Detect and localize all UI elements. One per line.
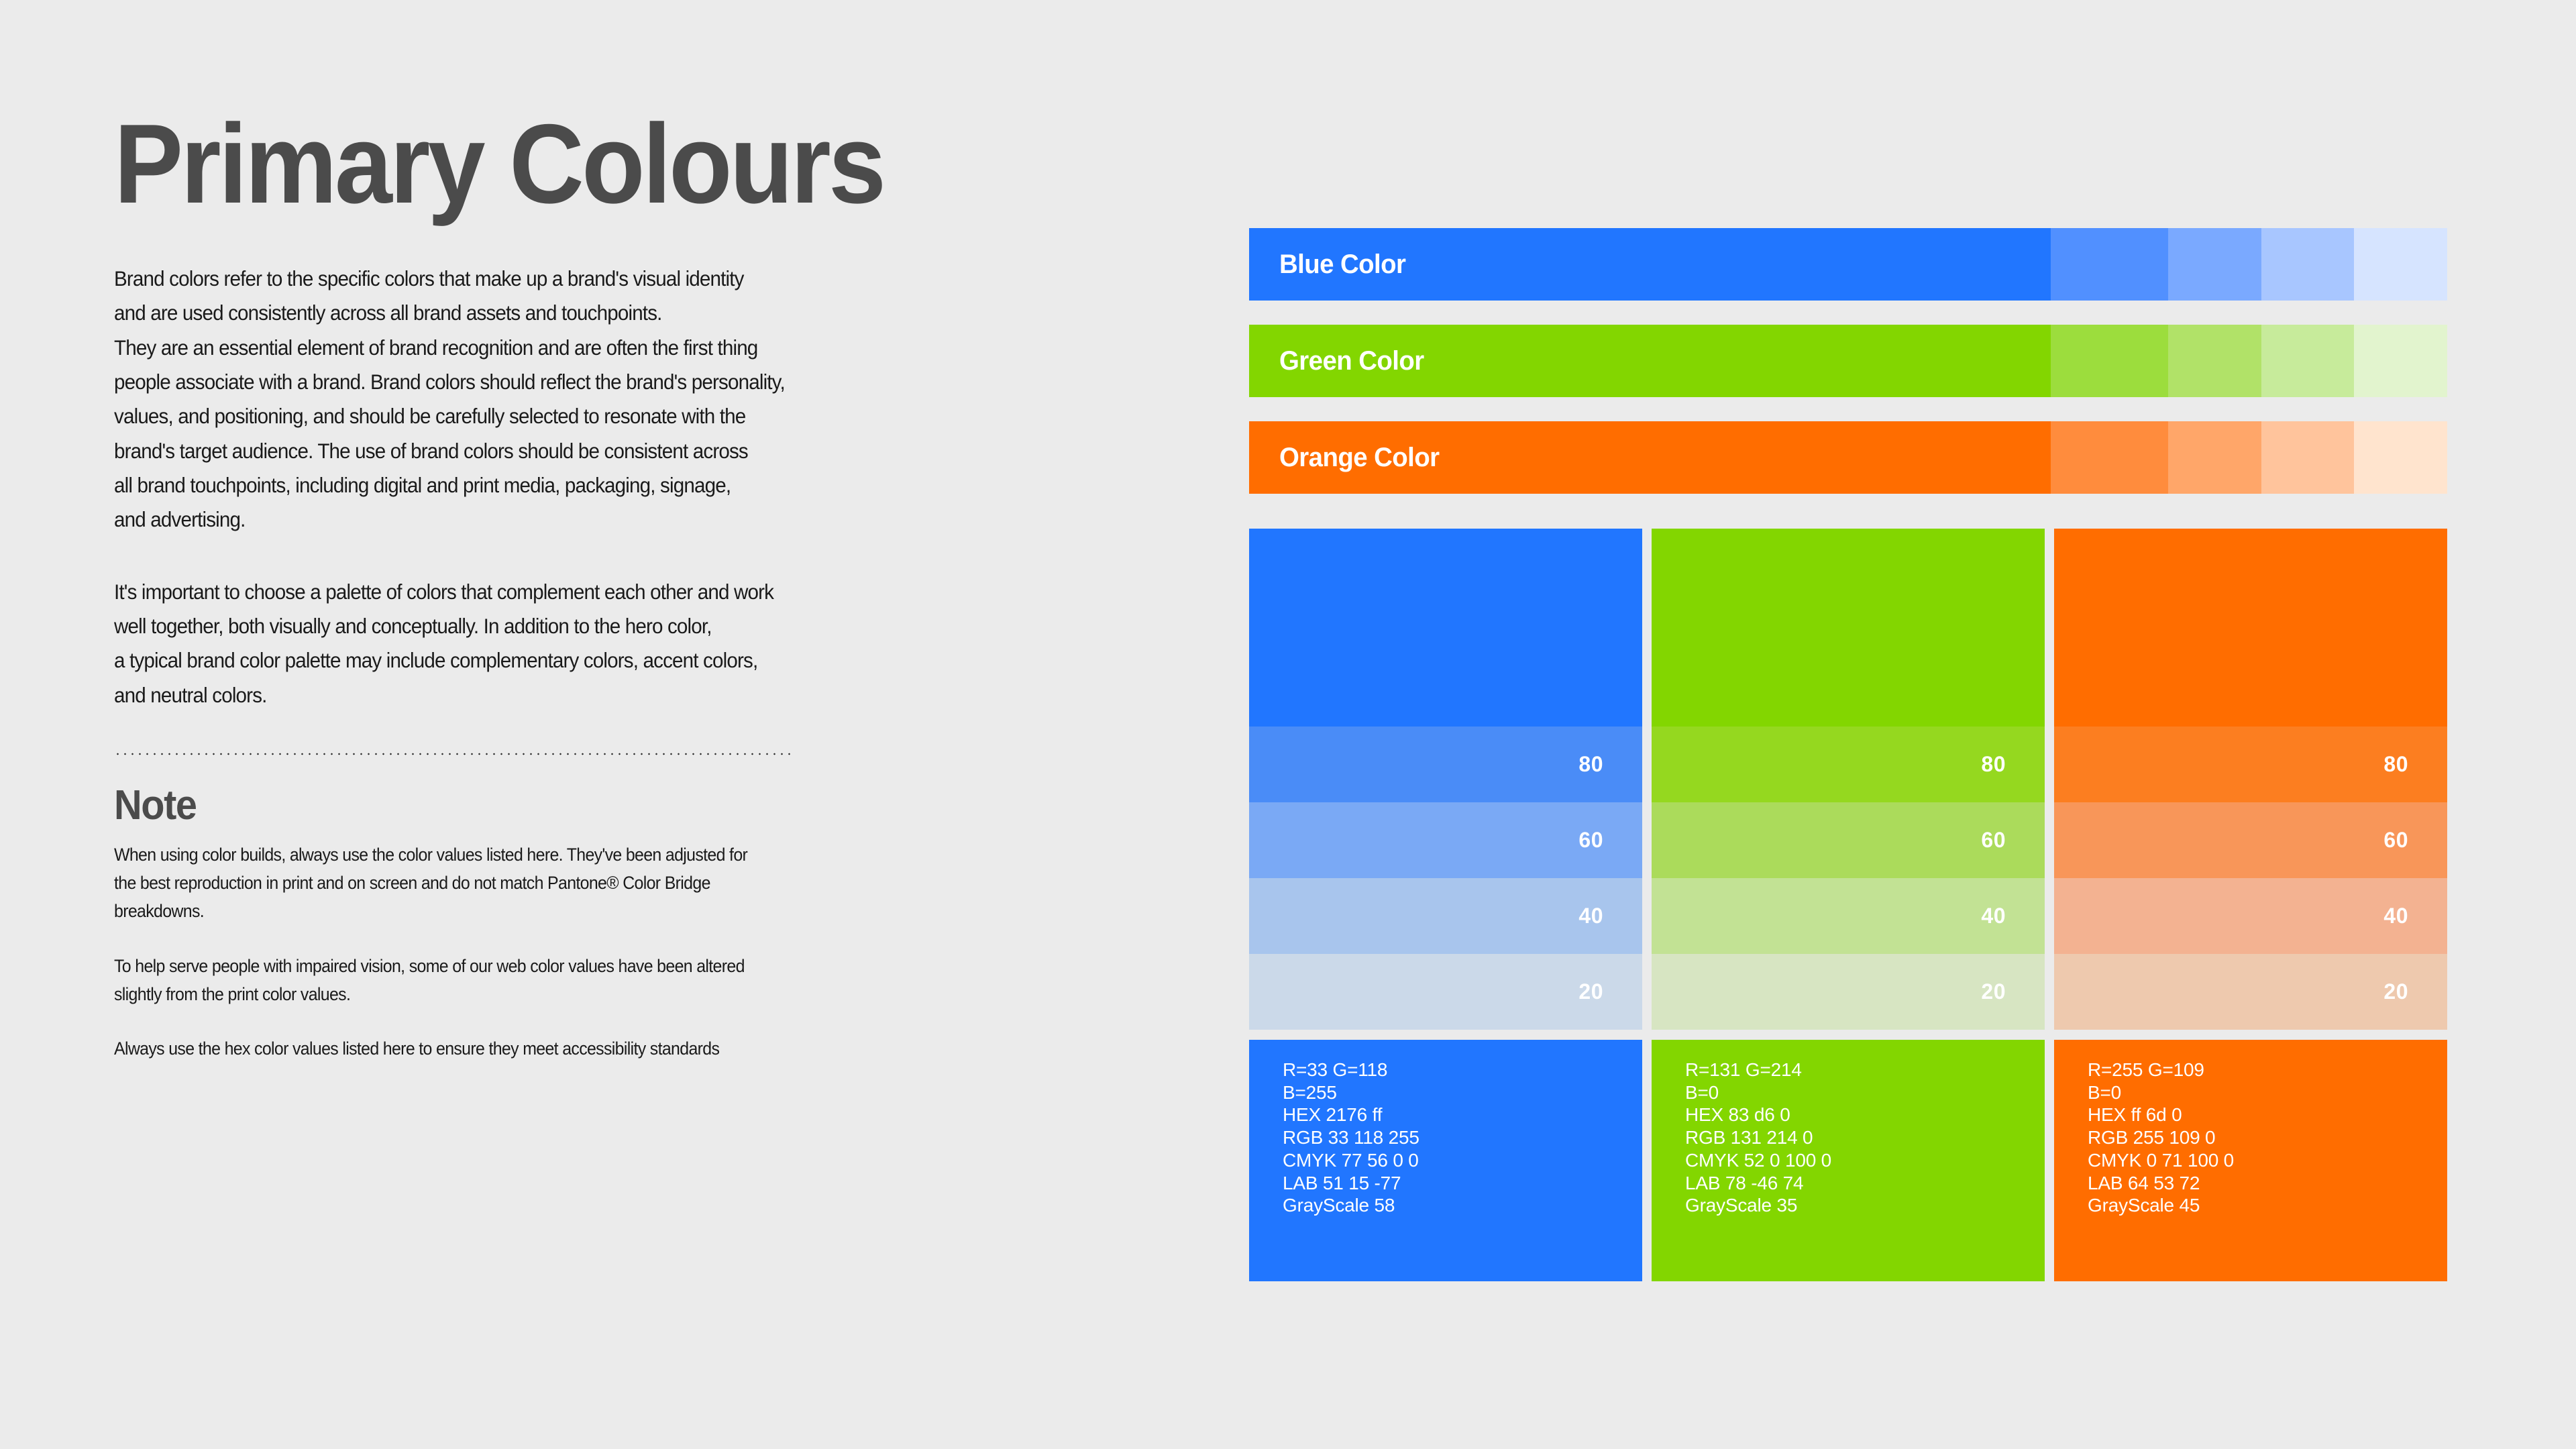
- tint-value: 80: [1578, 752, 1603, 777]
- intro-line: values, and positioning, and should be c…: [114, 399, 1136, 433]
- spec-line: LAB 78 -46 74: [1685, 1172, 2045, 1195]
- tint-band: [2054, 529, 2447, 727]
- hero-tint-swatch: [2261, 325, 2355, 397]
- intro-body-text: Brand colors refer to the specific color…: [114, 262, 1136, 712]
- hero-main-swatch: Green Color: [1249, 325, 2051, 397]
- color-spec-orange: R=255 G=109 B=0 HEX ff 6d 0 RGB 255 109 …: [2054, 1040, 2447, 1281]
- spec-line: CMYK 52 0 100 0: [1685, 1149, 2045, 1172]
- tint-ladder-green: 80 60 40 20: [1652, 529, 2045, 1030]
- hero-tint-swatch: [2051, 421, 2168, 494]
- tint-band: 80: [2054, 727, 2447, 802]
- spec-line: HEX 83 d6 0: [1685, 1104, 2045, 1126]
- tint-band: 60: [2054, 802, 2447, 878]
- tint-band: 40: [1249, 878, 1642, 954]
- spec-line: HEX ff 6d 0: [2088, 1104, 2447, 1126]
- left-content-column: Primary Colours Brand colors refer to th…: [114, 0, 1201, 1449]
- intro-line: They are an essential element of brand r…: [114, 331, 1136, 365]
- tint-value: 40: [1981, 904, 2006, 928]
- hero-label: Orange Color: [1279, 443, 1439, 473]
- tint-band: 20: [1652, 954, 2045, 1030]
- spec-line: R=33 G=118: [1283, 1059, 1642, 1081]
- hero-bar-orange: Orange Color: [1249, 421, 2447, 494]
- tint-value: 60: [2383, 828, 2408, 853]
- page-title: Primary Colours: [114, 0, 1114, 220]
- spec-line: B=0: [1685, 1081, 2045, 1104]
- intro2-line: a typical brand color palette may includ…: [114, 643, 1136, 678]
- note-line: When using color builds, always use the …: [114, 841, 1136, 869]
- hero-bar-blue: Blue Color: [1249, 228, 2447, 301]
- spec-line: RGB 33 118 255: [1283, 1126, 1642, 1149]
- spec-line: HEX 2176 ff: [1283, 1104, 1642, 1126]
- hero-tint-swatch: [2051, 325, 2168, 397]
- hero-tint-swatch: [2168, 228, 2261, 301]
- note-line: the best reproduction in print and on sc…: [114, 869, 1136, 898]
- tint-value: 20: [1981, 979, 2006, 1004]
- tint-value: 80: [1981, 752, 2006, 777]
- color-spec-blue: R=33 G=118 B=255 HEX 2176 ff RGB 33 118 …: [1249, 1040, 1642, 1281]
- tint-value: 60: [1578, 828, 1603, 853]
- spec-line: B=255: [1283, 1081, 1642, 1104]
- hero-label: Blue Color: [1279, 250, 1405, 280]
- hero-tint-swatch: [2261, 421, 2355, 494]
- intro-line: brand's target audience. The use of bran…: [114, 434, 1136, 468]
- tint-band: 60: [1652, 802, 2045, 878]
- hero-tint-swatch: [2168, 325, 2261, 397]
- spec-line: RGB 131 214 0: [1685, 1126, 2045, 1149]
- tint-band: 40: [1652, 878, 2045, 954]
- note-line: Always use the hex color values listed h…: [114, 1035, 1136, 1063]
- intro-line: Brand colors refer to the specific color…: [114, 262, 1136, 296]
- spec-line: B=0: [2088, 1081, 2447, 1104]
- tint-value: 60: [1981, 828, 2006, 853]
- tint-value: 40: [2383, 904, 2408, 928]
- hero-main-swatch: Orange Color: [1249, 421, 2051, 494]
- tint-band: 60: [1249, 802, 1642, 878]
- note-body-text: When using color builds, always use the …: [114, 841, 1136, 1063]
- intro2-line: and neutral colors.: [114, 678, 1136, 712]
- spec-line: CMYK 0 71 100 0: [2088, 1149, 2447, 1172]
- intro2-line: well together, both visually and concept…: [114, 609, 1136, 643]
- tint-value: 20: [2383, 979, 2408, 1004]
- spec-line: LAB 64 53 72: [2088, 1172, 2447, 1195]
- tint-band: 80: [1249, 727, 1642, 802]
- hero-tint-swatch: [2354, 325, 2447, 397]
- hero-tint-swatch: [2354, 421, 2447, 494]
- hero-tint-swatch: [2261, 228, 2355, 301]
- tint-band: 40: [2054, 878, 2447, 954]
- hero-bar-green: Green Color: [1249, 325, 2447, 397]
- note-line: To help serve people with impaired visio…: [114, 953, 1136, 981]
- spec-line: R=255 G=109: [2088, 1059, 2447, 1081]
- spec-line: GrayScale 45: [2088, 1194, 2447, 1217]
- tint-ladder-orange: 80 60 40 20: [2054, 529, 2447, 1030]
- hero-tint-swatch: [2168, 421, 2261, 494]
- hero-label: Green Color: [1279, 346, 1424, 376]
- hero-tint-swatch: [2354, 228, 2447, 301]
- intro2-line: It's important to choose a palette of co…: [114, 575, 1136, 609]
- note-heading: Note: [114, 755, 1125, 826]
- intro-line: and advertising.: [114, 502, 1136, 537]
- tint-band: [1652, 529, 2045, 727]
- tint-value: 80: [2383, 752, 2408, 777]
- intro-line: and are used consistently across all bra…: [114, 296, 1136, 330]
- tint-ladder-row: 80 60 40 20 80 60 40: [1249, 529, 2447, 1030]
- tint-band: 20: [2054, 954, 2447, 1030]
- hero-tint-swatch: [2051, 228, 2168, 301]
- tint-value: 20: [1578, 979, 1603, 1004]
- spec-line: RGB 255 109 0: [2088, 1126, 2447, 1149]
- tint-band: 20: [1249, 954, 1642, 1030]
- intro-line: people associate with a brand. Brand col…: [114, 365, 1136, 399]
- note-line: breakdowns.: [114, 898, 1136, 926]
- spec-line: CMYK 77 56 0 0: [1283, 1149, 1642, 1172]
- tint-ladder-blue: 80 60 40 20: [1249, 529, 1642, 1030]
- color-spec-row: R=33 G=118 B=255 HEX 2176 ff RGB 33 118 …: [1249, 1040, 2447, 1281]
- tint-band: 80: [1652, 727, 2045, 802]
- color-spec-green: R=131 G=214 B=0 HEX 83 d6 0 RGB 131 214 …: [1652, 1040, 2045, 1281]
- tint-value: 40: [1578, 904, 1603, 928]
- spec-line: GrayScale 35: [1685, 1194, 2045, 1217]
- intro-line: all brand touchpoints, including digital…: [114, 468, 1136, 502]
- spec-line: R=131 G=214: [1685, 1059, 2045, 1081]
- spec-line: LAB 51 15 -77: [1283, 1172, 1642, 1195]
- tint-band: [1249, 529, 1642, 727]
- spec-line: GrayScale 58: [1283, 1194, 1642, 1217]
- color-palette-panel: Blue Color Green Color Orange Color: [1249, 228, 2447, 1281]
- note-line: slightly from the print color values.: [114, 981, 1136, 1009]
- hero-main-swatch: Blue Color: [1249, 228, 2051, 301]
